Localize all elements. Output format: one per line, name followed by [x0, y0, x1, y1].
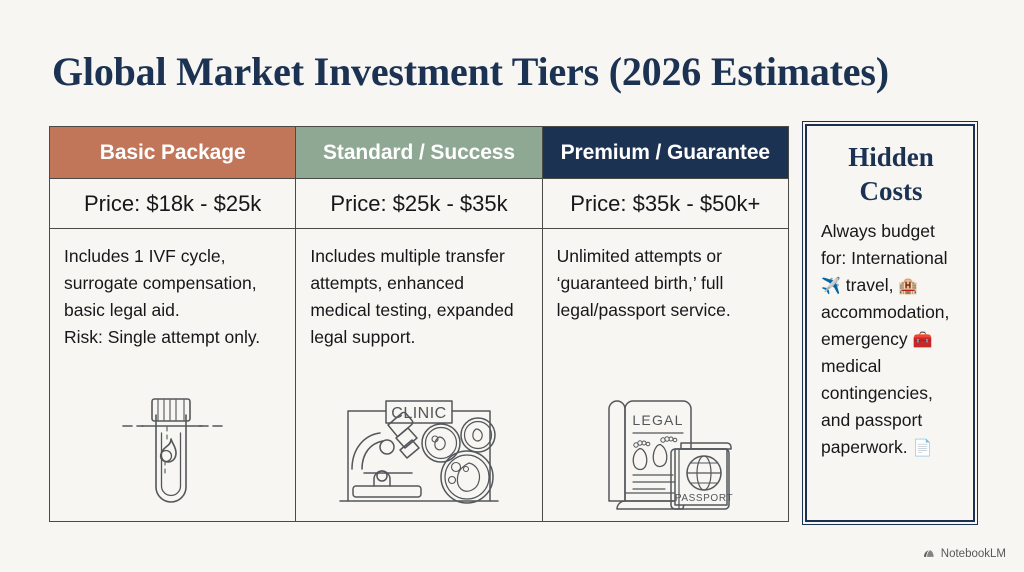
column-body-basic: Includes 1 IVF cycle, surrogate compensa… — [50, 229, 295, 521]
legal-passport-illustration: LEGAL — [543, 393, 788, 515]
svg-text:PASSPORT: PASSPORT — [675, 493, 733, 504]
slide-canvas: Global Market Investment Tiers (2026 Est… — [0, 0, 1024, 572]
hidden-costs-title-line2: Costs — [821, 174, 961, 208]
table-column-premium: Premium / Guarantee Price: $35k - $50k+ … — [543, 127, 788, 521]
airplane-icon: ✈️ — [821, 276, 841, 295]
table-column-basic: Basic Package Price: $18k - $25k Include… — [50, 127, 296, 521]
hidden-costs-title-line1: Hidden — [821, 140, 961, 174]
notebooklm-logo-icon — [923, 547, 936, 560]
column-body-standard: Includes multiple transfer attempts, enh… — [296, 229, 541, 521]
column-header-standard: Standard / Success — [296, 127, 541, 179]
column-price-premium: Price: $35k - $50k+ — [543, 179, 788, 229]
column-body-basic-line1: Includes 1 IVF cycle, surrogate compensa… — [64, 243, 281, 324]
hotel-icon: 🏨 — [898, 276, 918, 295]
column-header-premium: Premium / Guarantee — [543, 127, 788, 179]
first-aid-kit-icon: 🧰 — [912, 330, 932, 349]
table-column-standard: Standard / Success Price: $25k - $35k In… — [296, 127, 542, 521]
column-body-standard-line1: Includes multiple transfer attempts, enh… — [310, 243, 527, 351]
page-document-icon: 📄 — [912, 438, 932, 457]
column-price-standard: Price: $25k - $35k — [296, 179, 541, 229]
svg-text:CLINIC: CLINIC — [392, 405, 447, 422]
hidden-costs-title: Hidden Costs — [821, 140, 961, 208]
hidden-costs-text-1: International — [851, 248, 947, 268]
notebooklm-watermark: NotebookLM — [923, 547, 1006, 560]
column-body-premium: Unlimited attempts or ‘guaranteed birth,… — [543, 229, 788, 521]
column-body-basic-line2: Risk: Single attempt only. — [64, 324, 281, 351]
notebooklm-label: NotebookLM — [941, 548, 1006, 560]
investment-tiers-table: Basic Package Price: $18k - $25k Include… — [49, 126, 789, 522]
column-header-basic: Basic Package — [50, 127, 295, 179]
clinic-microscope-illustration: CLINIC — [296, 397, 541, 515]
page-title: Global Market Investment Tiers (2026 Est… — [52, 48, 972, 96]
svg-text:LEGAL: LEGAL — [633, 412, 684, 428]
hidden-costs-text-2: travel, — [846, 275, 894, 295]
column-body-premium-line1: Unlimited attempts or ‘guaranteed birth,… — [557, 243, 774, 324]
hidden-costs-body: Always budget for: International ✈️ trav… — [821, 218, 961, 461]
test-tube-illustration — [50, 393, 295, 515]
column-price-basic: Price: $18k - $25k — [50, 179, 295, 229]
hidden-costs-callout: Hidden Costs Always budget for: Internat… — [805, 124, 975, 522]
